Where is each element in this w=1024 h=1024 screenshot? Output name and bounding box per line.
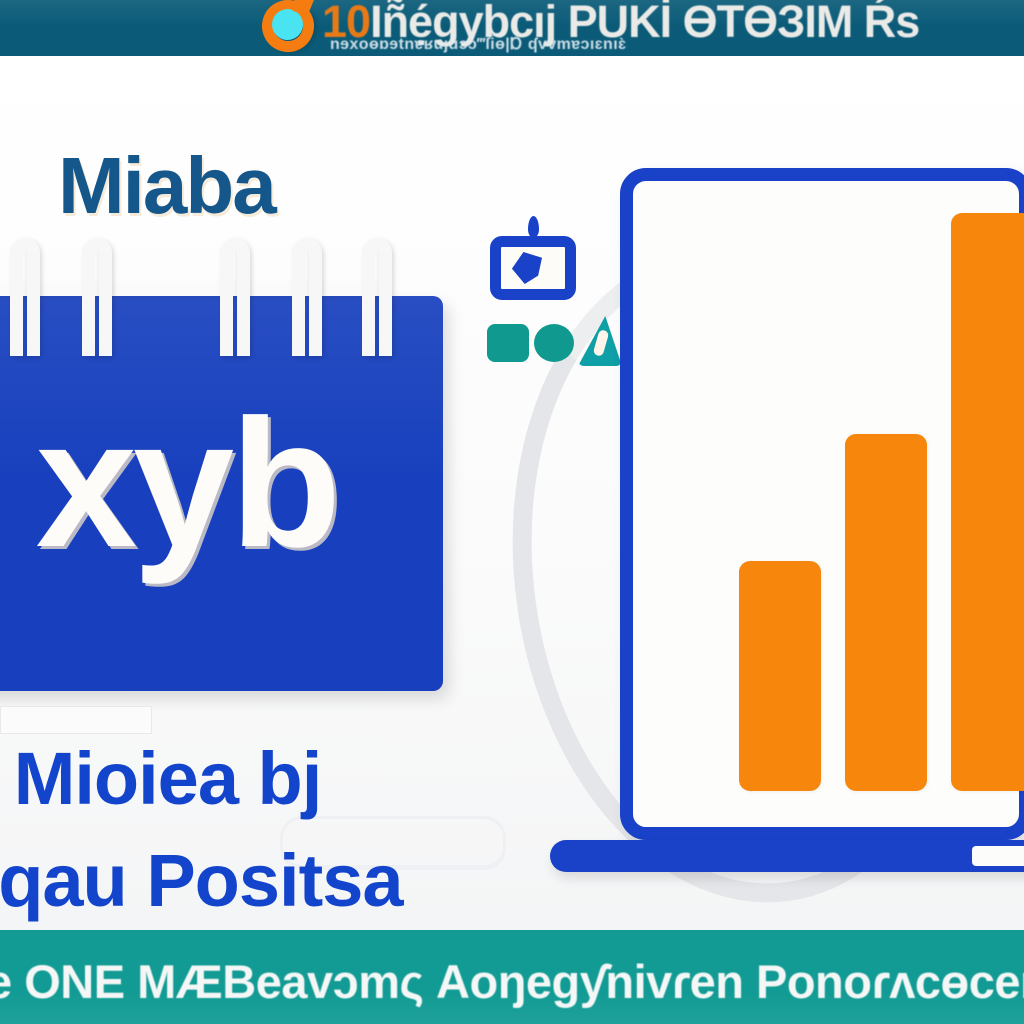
binding-ring-icon [82,238,112,356]
map-pin-icon [528,216,539,238]
bar-2 [845,434,927,791]
footer-text: e ONE MÆBeavɔmς Aoŋeɡƴnivɾen Ponoɾʌcɵcen… [0,954,1024,1009]
bar-1 [739,561,821,791]
body-line-1: e Mioiea bj [0,737,321,820]
icon-cluster [480,214,600,374]
notebook-card: xyb [0,238,450,698]
teal-circle-icon [534,324,574,362]
footer-bar: e ONE MÆBeavɔmς Aoŋeɡƴnivɾen Ponoɾʌcɵcen… [0,930,1024,1024]
binding-ring-icon [362,238,392,356]
binding-ring-icon [220,238,250,356]
paper-sheet-edge [0,282,388,296]
laptop-illustration [620,168,1024,880]
bar-3 [951,213,1024,791]
binding-ring-icon [10,238,40,356]
binding-ring-icon [292,238,322,356]
poster-canvas: 10Iñ̃ẹ́gybcıj PUKİ ӨTӨЗIM Ŕѕ nɘxoɵɒɘtnɐʁ… [0,0,1024,1024]
laptop-base-notch [972,846,1024,866]
body-copy: e Mioiea bj oqau Positsa [0,728,634,932]
laptop-screen [620,168,1024,840]
bar-chart [633,181,1024,853]
page-title: Miaba [58,140,275,232]
notebook-card-label: xyb [0,392,443,574]
top-banner: 10Iñ̃ẹ́gybcıj PUKİ ӨTӨЗIM Ŕѕ nɘxoɵɒɘtnɐʁ… [0,0,1024,56]
banner-subtitle: nɘxoɵɒɘtnɐʁuȷɑɔɔ‴ſi͡ɵ|Ɒ ʠvvmɐɔıɛnıɛ̀ [330,34,626,54]
teal-square-icon [487,324,529,362]
body-line-2: oqau Positsa [0,830,634,932]
main-canvas: Miaba xyb [0,56,1024,930]
orange-swoosh-logo-icon [258,0,322,56]
